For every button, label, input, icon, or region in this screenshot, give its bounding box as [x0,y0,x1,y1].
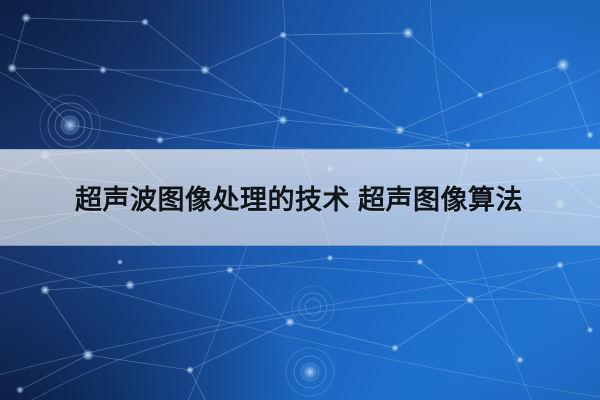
page-title: 超声波图像处理的技术 超声图像算法 [75,149,523,246]
banner-image: 超声波图像处理的技术 超声图像算法 [0,0,600,400]
title-band: 超声波图像处理的技术 超声图像算法 [0,149,600,246]
